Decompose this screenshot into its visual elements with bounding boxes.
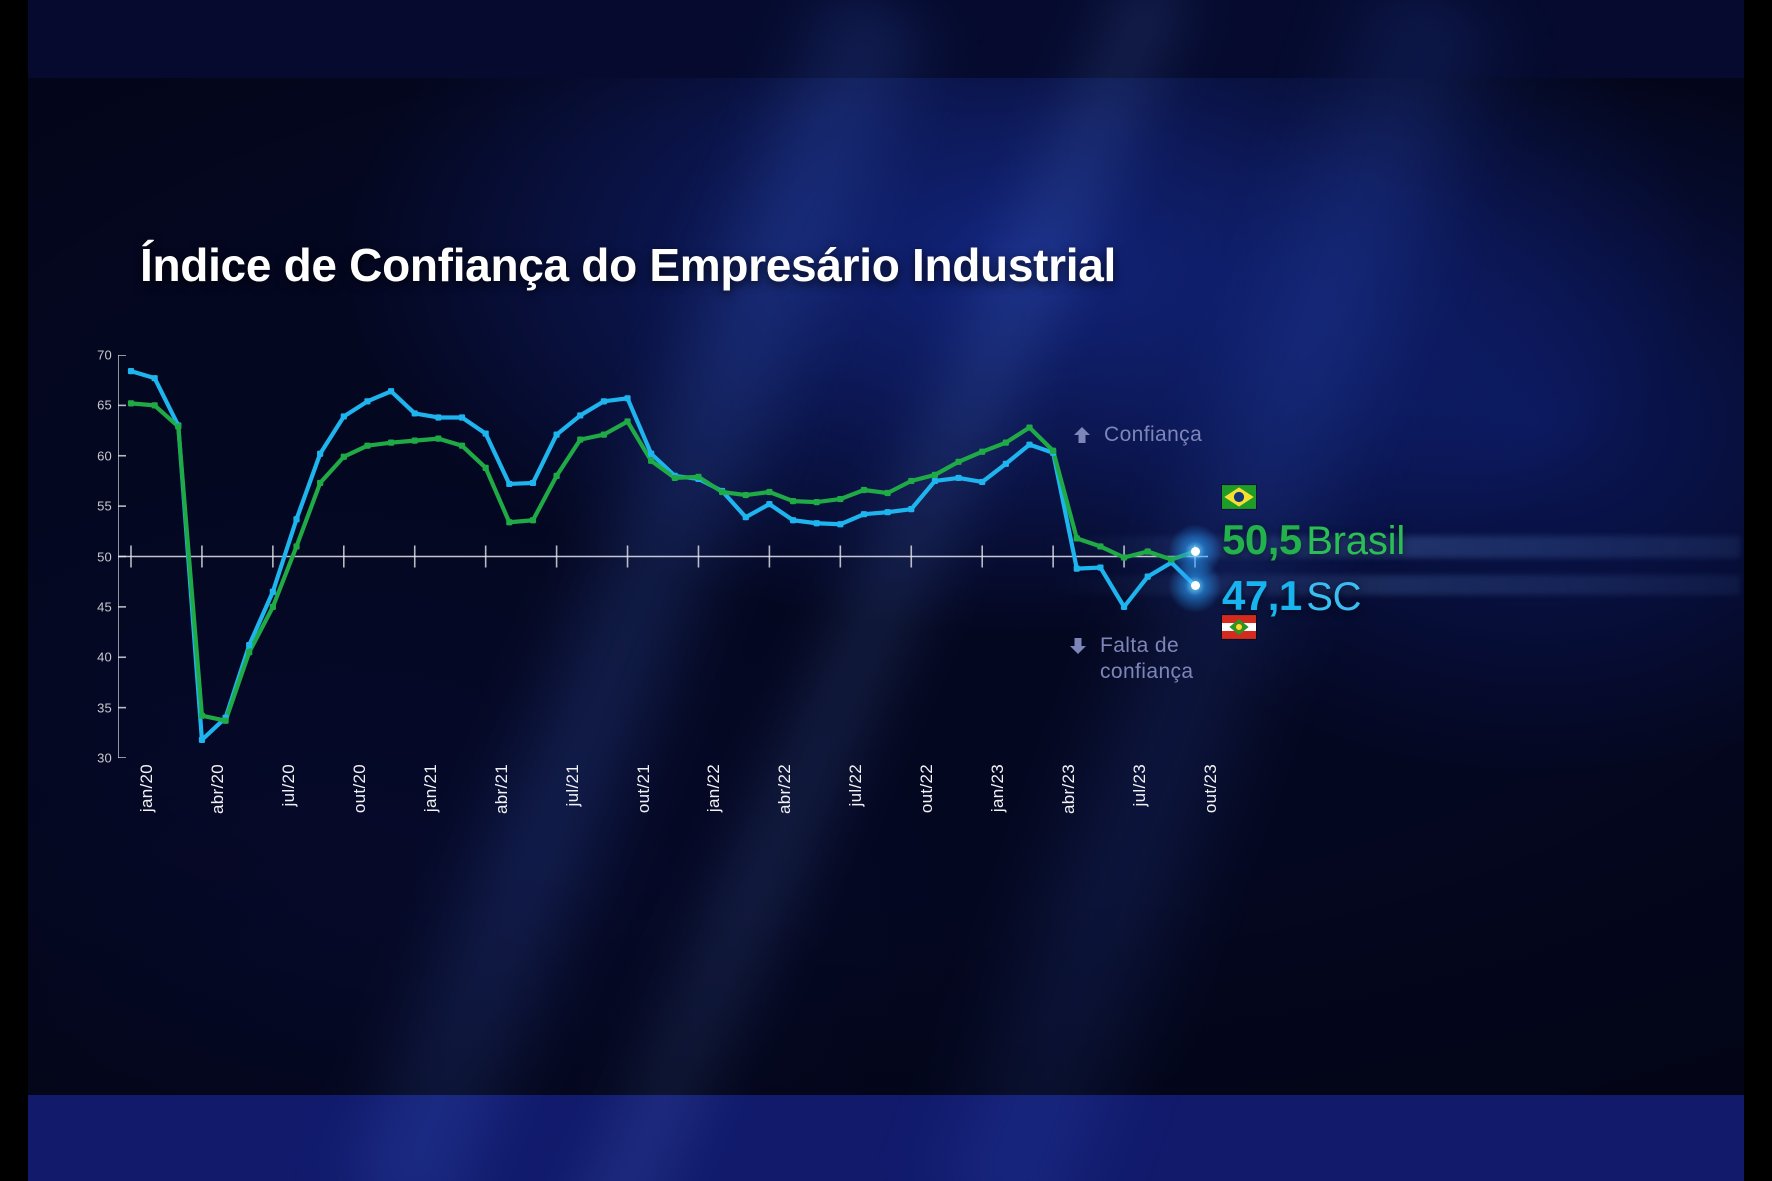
flag-brazil-icon [1221, 484, 1257, 510]
line-chart-svg [118, 355, 1208, 758]
y-axis-tick-label: 70 [78, 348, 112, 363]
legend-value-sc: 47,1 [1222, 572, 1302, 619]
lack-confidence-annotation: Falta de confiança [1100, 633, 1260, 685]
letterbox-bottom [0, 1095, 1772, 1181]
letterbox-right [1744, 0, 1772, 1181]
confidence-annotation: Confiança [1104, 422, 1202, 448]
plot-area [118, 355, 1208, 758]
x-axis-tick-label: jan/21 [421, 764, 441, 812]
y-axis-tick-label: 60 [78, 448, 112, 463]
x-axis-tick-label: out/20 [350, 764, 370, 813]
arrow-down-icon [1068, 636, 1088, 656]
x-axis-tick-label: out/22 [917, 764, 937, 813]
page-title: Índice de Confiança do Empresário Indust… [140, 238, 1116, 292]
x-axis: jan/20abr/20jul/20out/20jan/21abr/21jul/… [118, 764, 1208, 884]
legend-label-brasil: Brasil [1306, 519, 1405, 563]
letterbox-top [0, 0, 1772, 78]
x-axis-tick-label: jul/21 [563, 764, 583, 806]
y-axis: 706560555045403530 [72, 355, 112, 758]
y-axis-tick-label: 30 [78, 751, 112, 766]
y-axis-tick-label: 35 [78, 700, 112, 715]
x-axis-tick-label: out/23 [1201, 764, 1221, 813]
legend-label-sc: SC [1306, 575, 1361, 619]
y-axis-tick-label: 40 [78, 650, 112, 665]
x-axis-tick-label: abr/23 [1059, 764, 1079, 814]
legend-entry-sc: 47,1 SC [1222, 572, 1361, 620]
arrow-up-icon [1072, 425, 1092, 445]
x-axis-tick-label: jan/22 [704, 764, 724, 812]
x-axis-tick-label: jul/20 [279, 764, 299, 806]
y-axis-tick-label: 55 [78, 499, 112, 514]
y-axis-tick-label: 65 [78, 398, 112, 413]
confidence-annotation-label: Confiança [1104, 423, 1202, 446]
legend-value-brasil: 50,5 [1222, 516, 1302, 563]
x-axis-tick-label: abr/21 [492, 764, 512, 814]
y-axis-tick-label: 45 [78, 599, 112, 614]
x-axis-tick-label: jan/20 [137, 764, 157, 812]
y-axis-tick-label: 50 [78, 549, 112, 564]
screenshot-stage: Índice de Confiança do Empresário Indust… [0, 0, 1772, 1181]
x-axis-tick-label: jul/23 [1130, 764, 1150, 806]
x-axis-tick-label: abr/20 [208, 764, 228, 814]
x-axis-tick-label: jan/23 [988, 764, 1008, 812]
x-axis-tick-label: out/21 [634, 764, 654, 813]
x-axis-tick-label: jul/22 [846, 764, 866, 806]
legend-entry-brasil: 50,5 Brasil [1222, 516, 1405, 564]
letterbox-left [0, 0, 28, 1181]
lack-confidence-line2: confiança [1100, 659, 1260, 685]
flag-santa-catarina-icon [1221, 614, 1257, 640]
x-axis-tick-label: abr/22 [775, 764, 795, 814]
